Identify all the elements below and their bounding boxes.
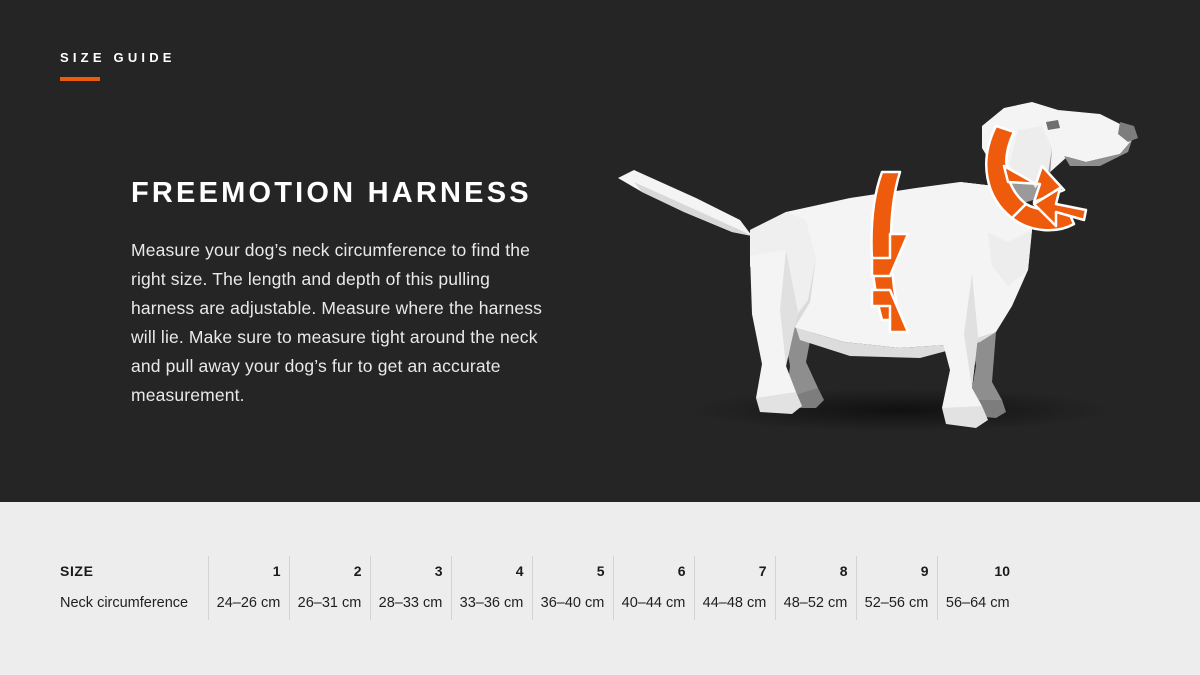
row-label-neck-circumference: Neck circumference bbox=[60, 586, 208, 620]
size-guide-page: SIZE GUIDE FREEMOTION HARNESS Measure yo… bbox=[0, 0, 1200, 675]
size-header-7: 7 bbox=[694, 556, 775, 586]
size-header-label: SIZE bbox=[60, 556, 208, 586]
accent-rule bbox=[60, 77, 100, 81]
ground-shadow bbox=[690, 388, 1110, 432]
size-header-1: 1 bbox=[208, 556, 289, 586]
size-header-4: 4 bbox=[451, 556, 532, 586]
neck-value-5: 36–40 cm bbox=[532, 586, 613, 620]
neck-value-10: 56–64 cm bbox=[937, 586, 1018, 620]
page-title: FREEMOTION HARNESS bbox=[131, 178, 551, 210]
neck-value-7: 44–48 cm bbox=[694, 586, 775, 620]
table-row: Neck circumference 24–26 cm 26–31 cm 28–… bbox=[60, 586, 1018, 620]
size-header-9: 9 bbox=[856, 556, 937, 586]
neck-value-3: 28–33 cm bbox=[370, 586, 451, 620]
neck-value-6: 40–44 cm bbox=[613, 586, 694, 620]
neck-value-2: 26–31 cm bbox=[289, 586, 370, 620]
neck-value-1: 24–26 cm bbox=[208, 586, 289, 620]
size-header-10: 10 bbox=[937, 556, 1018, 586]
hero-copy: FREEMOTION HARNESS Measure your dog’s ne… bbox=[131, 178, 551, 410]
hero-panel: SIZE GUIDE FREEMOTION HARNESS Measure yo… bbox=[0, 0, 1200, 502]
hero-description: Measure your dog’s neck circumference to… bbox=[131, 236, 551, 410]
neck-value-4: 33–36 cm bbox=[451, 586, 532, 620]
eyebrow-label: SIZE GUIDE bbox=[60, 50, 176, 65]
size-header-8: 8 bbox=[775, 556, 856, 586]
table-header-row: SIZE 1 2 3 4 5 6 7 8 9 10 bbox=[60, 556, 1018, 586]
tail bbox=[618, 170, 752, 236]
size-header-3: 3 bbox=[370, 556, 451, 586]
eyebrow-block: SIZE GUIDE bbox=[60, 50, 176, 81]
neck-value-9: 52–56 cm bbox=[856, 586, 937, 620]
size-header-6: 6 bbox=[613, 556, 694, 586]
size-header-2: 2 bbox=[289, 556, 370, 586]
dog-illustration bbox=[600, 70, 1160, 450]
size-table-panel: SIZE 1 2 3 4 5 6 7 8 9 10 Neck circumfer… bbox=[0, 502, 1200, 675]
size-table: SIZE 1 2 3 4 5 6 7 8 9 10 Neck circumfer… bbox=[60, 556, 1018, 620]
neck-value-8: 48–52 cm bbox=[775, 586, 856, 620]
size-header-5: 5 bbox=[532, 556, 613, 586]
